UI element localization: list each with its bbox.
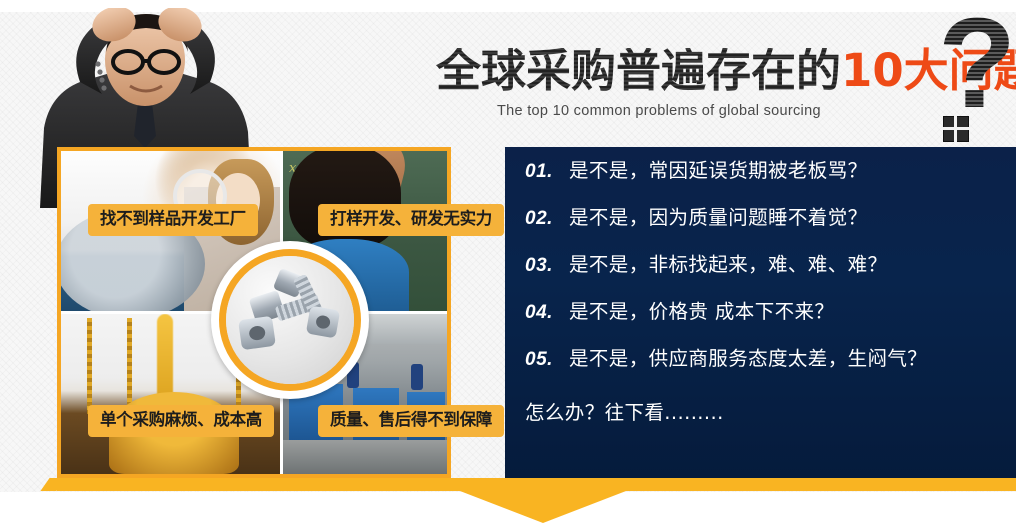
list-item-text: 是不是，非标找起来，难、难、难？ (569, 255, 887, 275)
question-mark-icon: ? (938, 0, 1016, 128)
photo-bolts-nuts (226, 256, 354, 384)
list-item-text: 是不是，价格贵 成本下不来？ (569, 302, 834, 322)
scroll-down-arrow-icon (460, 491, 626, 523)
poster-canvas: 全球采购普遍存在的 10大问题 The top 10 common proble… (0, 0, 1016, 531)
title-main-text: 全球采购普遍存在的 (436, 48, 841, 93)
list-item-number: 03. (525, 255, 569, 277)
list-item: 02. 是不是，因为质量问题睡不着觉？ (525, 208, 1005, 238)
page-title: 全球采购普遍存在的 10大问题 (436, 48, 1016, 93)
panel-footer-text: 怎么办？往下看......... (525, 396, 1005, 425)
list-item: 01. 是不是，常因延误货期被老板骂？ (525, 161, 1005, 191)
question-mark-dot-icon (943, 116, 969, 142)
list-item-number: 02. (525, 208, 569, 230)
list-item: 05. 是不是，供应商服务态度太差，生闷气？ (525, 349, 1005, 379)
label-no-rnd-strength: 打样开发、研发无实力 (318, 204, 504, 236)
list-item-number: 01. (525, 161, 569, 183)
list-item-number: 04. (525, 302, 569, 324)
list-item-text: 是不是，供应商服务态度太差，生闷气？ (569, 349, 927, 369)
question-mark-graphic: ? (938, 18, 1016, 136)
label-single-purchase-cost: 单个采购麻烦、成本高 (88, 405, 274, 437)
label-no-sample-factory: 找不到样品开发工厂 (88, 204, 258, 236)
list-item: 03. 是不是，非标找起来，难、难、难？ (525, 255, 1005, 285)
list-item: 04. 是不是，价格贵 成本下不来？ (525, 302, 1005, 332)
list-item-number: 05. (525, 349, 569, 371)
label-no-quality-warranty: 质量、售后得不到保障 (318, 405, 504, 437)
problems-list: 01. 是不是，常因延误货期被老板骂？ 02. 是不是，因为质量问题睡不着觉？ … (525, 161, 1005, 425)
list-item-text: 是不是，因为质量问题睡不着觉？ (569, 208, 868, 228)
poster-header: 全球采购普遍存在的 10大问题 The top 10 common proble… (0, 0, 1016, 150)
page-subtitle: The top 10 common problems of global sou… (497, 103, 821, 119)
problems-panel: 01. 是不是，常因延误货期被老板骂？ 02. 是不是，因为质量问题睡不着觉？ … (505, 147, 1016, 478)
list-item-text: 是不是，常因延误货期被老板骂？ (569, 161, 868, 181)
bottom-yellow-bar (57, 478, 1016, 491)
